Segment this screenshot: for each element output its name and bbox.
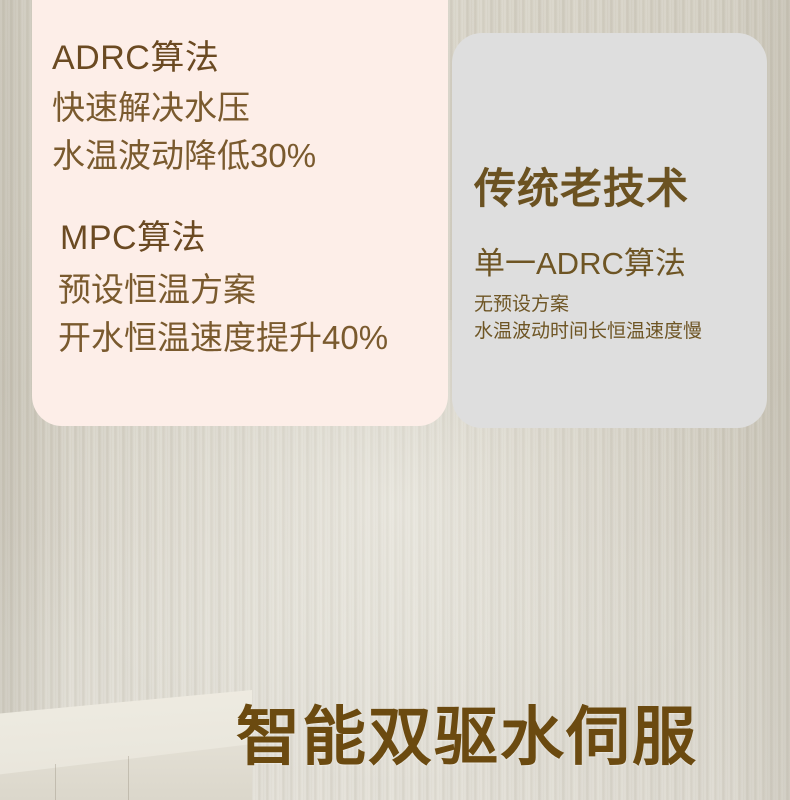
mpc-benefit-line-1: 预设恒温方案 — [58, 266, 256, 314]
page-bottom-headline: 智能双驱水伺服 — [236, 702, 698, 772]
legacy-detail-line-2: 水温波动时间长恒温速度慢 — [474, 319, 702, 346]
counter-panel-seam — [55, 764, 56, 800]
kitchen-counter — [0, 690, 252, 800]
adrc-benefit-line-1: 快速解决水压 — [52, 84, 250, 132]
adrc-section-heading: ADRC算法 — [52, 38, 219, 78]
mpc-section-heading: MPC算法 — [60, 218, 206, 258]
adrc-benefit-line-2: 水温波动降低30% — [52, 132, 316, 180]
new-technology-card: 智能双驱水伺服 ADRC算法 快速解决水压 水温波动降低30% MPC算法 预设… — [32, 0, 448, 426]
legacy-detail-line-1: 无预设方案 — [474, 292, 569, 319]
legacy-technology-card: 传统老技术 单一ADRC算法 无预设方案 水温波动时间长恒温速度慢 — [452, 33, 767, 428]
legacy-card-subtitle: 单一ADRC算法 — [474, 245, 686, 282]
counter-panel-seam — [128, 756, 129, 800]
mpc-benefit-line-2: 开水恒温速度提升40% — [58, 314, 388, 362]
product-comparison-page: 智能双驱水伺服 ADRC算法 快速解决水压 水温波动降低30% MPC算法 预设… — [0, 0, 790, 800]
legacy-card-title: 传统老技术 — [474, 166, 689, 212]
